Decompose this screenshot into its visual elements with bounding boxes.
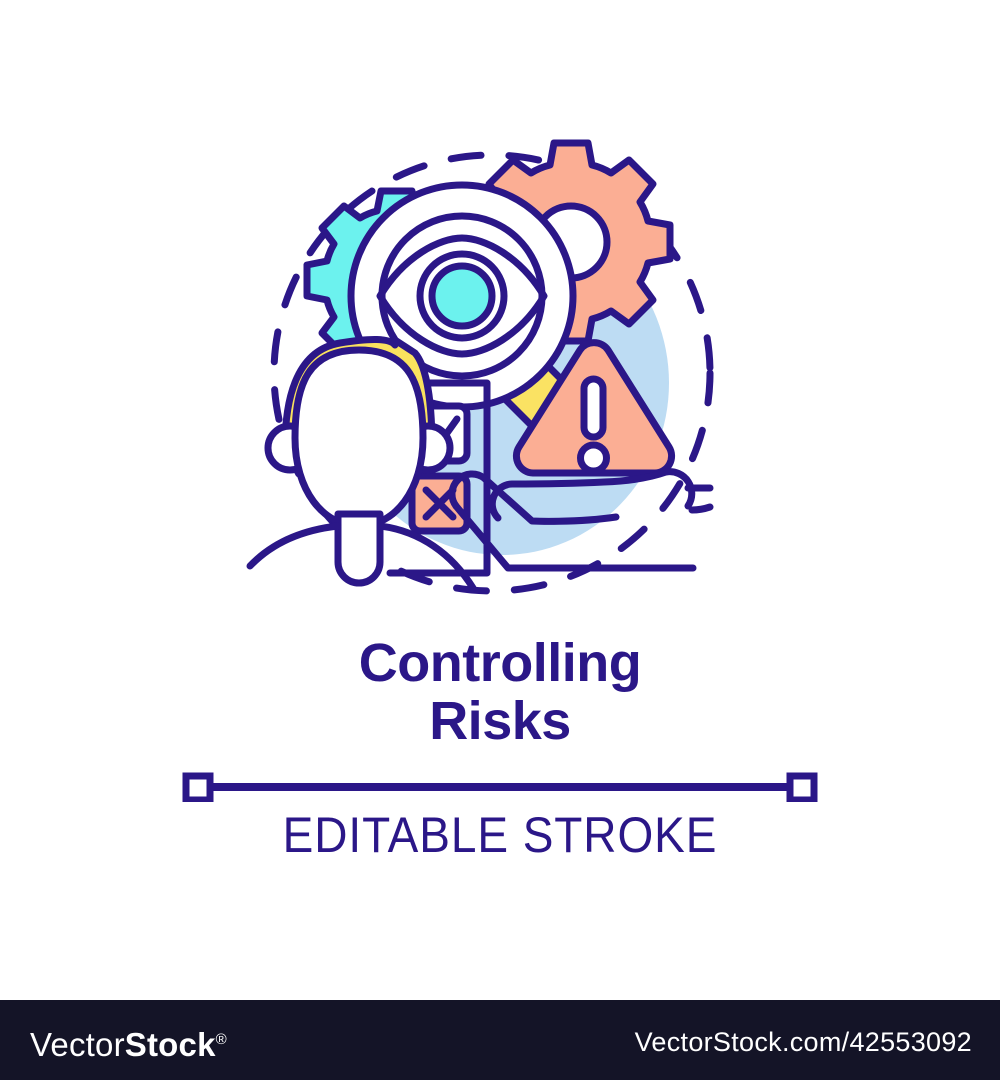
artboard: .ol { fill:none; stroke:#2B1788; stroke-… [0,0,1000,1000]
page-title: Controlling Risks [0,634,1000,750]
ruler-endpoint-right [790,776,814,800]
vectorstock-url: VectorStock.com/42553092 [635,1026,972,1058]
title-line-1: Controlling [0,634,1000,692]
exclamation-dot [581,445,607,471]
editable-stroke-label: EDITABLE STROKE [40,806,960,864]
logo-text-bold: Stock [125,1026,216,1063]
title-line-2: Risks [0,692,1000,750]
exclamation-bar [584,379,603,437]
cross-box [412,476,467,531]
registered-mark-icon: ® [216,1031,227,1048]
ruler-endpoint-left [186,776,210,800]
logo-text-light: Vector [30,1026,125,1063]
watermark-footer: VectorStock® VectorStock.com/42553092 [0,1000,1000,1080]
concept-illustration: .ol { fill:none; stroke:#2B1788; stroke-… [240,118,760,623]
vectorstock-logo: VectorStock® [30,1019,227,1061]
stroke-width-ruler [182,772,818,802]
